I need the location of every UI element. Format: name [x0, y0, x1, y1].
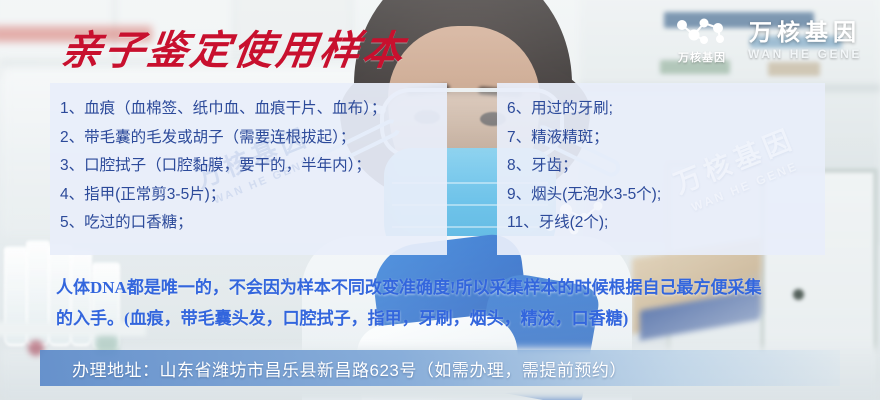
- logo-name-cn: 万核基因: [749, 20, 861, 45]
- brand-logo: 万核基因 万核基因 WAN HE GENE: [674, 16, 862, 65]
- promo-banner: 亲子鉴定使用样本: [0, 0, 880, 400]
- logo-mark-label: 万核基因: [678, 49, 726, 65]
- list-item: 6、用过的牙刷;: [507, 95, 661, 124]
- list-item: 2、带毛囊的毛发或胡子（需要连根拔起）；: [60, 124, 386, 153]
- sample-list-left: 1、血痕（血棉签、纸巾血、血痕干片、血布）； 2、带毛囊的毛发或胡子（需要连根拔…: [60, 95, 386, 238]
- molecule-icon: [674, 16, 730, 46]
- logo-mark: 万核基因: [674, 16, 730, 65]
- list-item: 9、烟头(无泡水3-5个);: [507, 181, 661, 210]
- address-text: 办理地址：山东省潍坊市昌乐县新昌路623号（如需办理，需提前预约）: [72, 356, 627, 381]
- list-item: 7、精液精斑；: [507, 124, 661, 153]
- note-paragraph: 人体DNA都是唯一的，不会因为样本不同改变准确度!所以采集样本的时候根据自己最方…: [56, 272, 846, 334]
- page-title: 亲子鉴定使用样本: [58, 18, 410, 76]
- list-item: 11、牙线(2个);: [507, 209, 661, 238]
- note-line-2: 的入手。(血痕，带毛囊头发，口腔拭子，指甲，牙刷，烟头，精液，口香糖): [56, 303, 846, 334]
- note-line-1: 人体DNA都是唯一的，不会因为样本不同改变准确度!所以采集样本的时候根据自己最方…: [56, 272, 846, 303]
- list-item: 3、口腔拭子（口腔黏膜，要干的，半年内）；: [60, 152, 386, 181]
- list-item: 5、吃过的口香糖；: [60, 209, 386, 238]
- list-item: 4、指甲(正常剪3-5片)；: [60, 181, 386, 210]
- logo-wordmark: 万核基因 WAN HE GENE: [748, 20, 862, 61]
- address-bar: 办理地址：山东省潍坊市昌乐县新昌路623号（如需办理，需提前预约）: [40, 350, 840, 386]
- sample-list-right: 6、用过的牙刷; 7、精液精斑； 8、牙齿； 9、烟头(无泡水3-5个); 11…: [507, 95, 661, 238]
- list-item: 1、血痕（血棉签、纸巾血、血痕干片、血布）；: [60, 95, 386, 124]
- logo-name-en: WAN HE GENE: [748, 48, 862, 61]
- list-item: 8、牙齿；: [507, 152, 661, 181]
